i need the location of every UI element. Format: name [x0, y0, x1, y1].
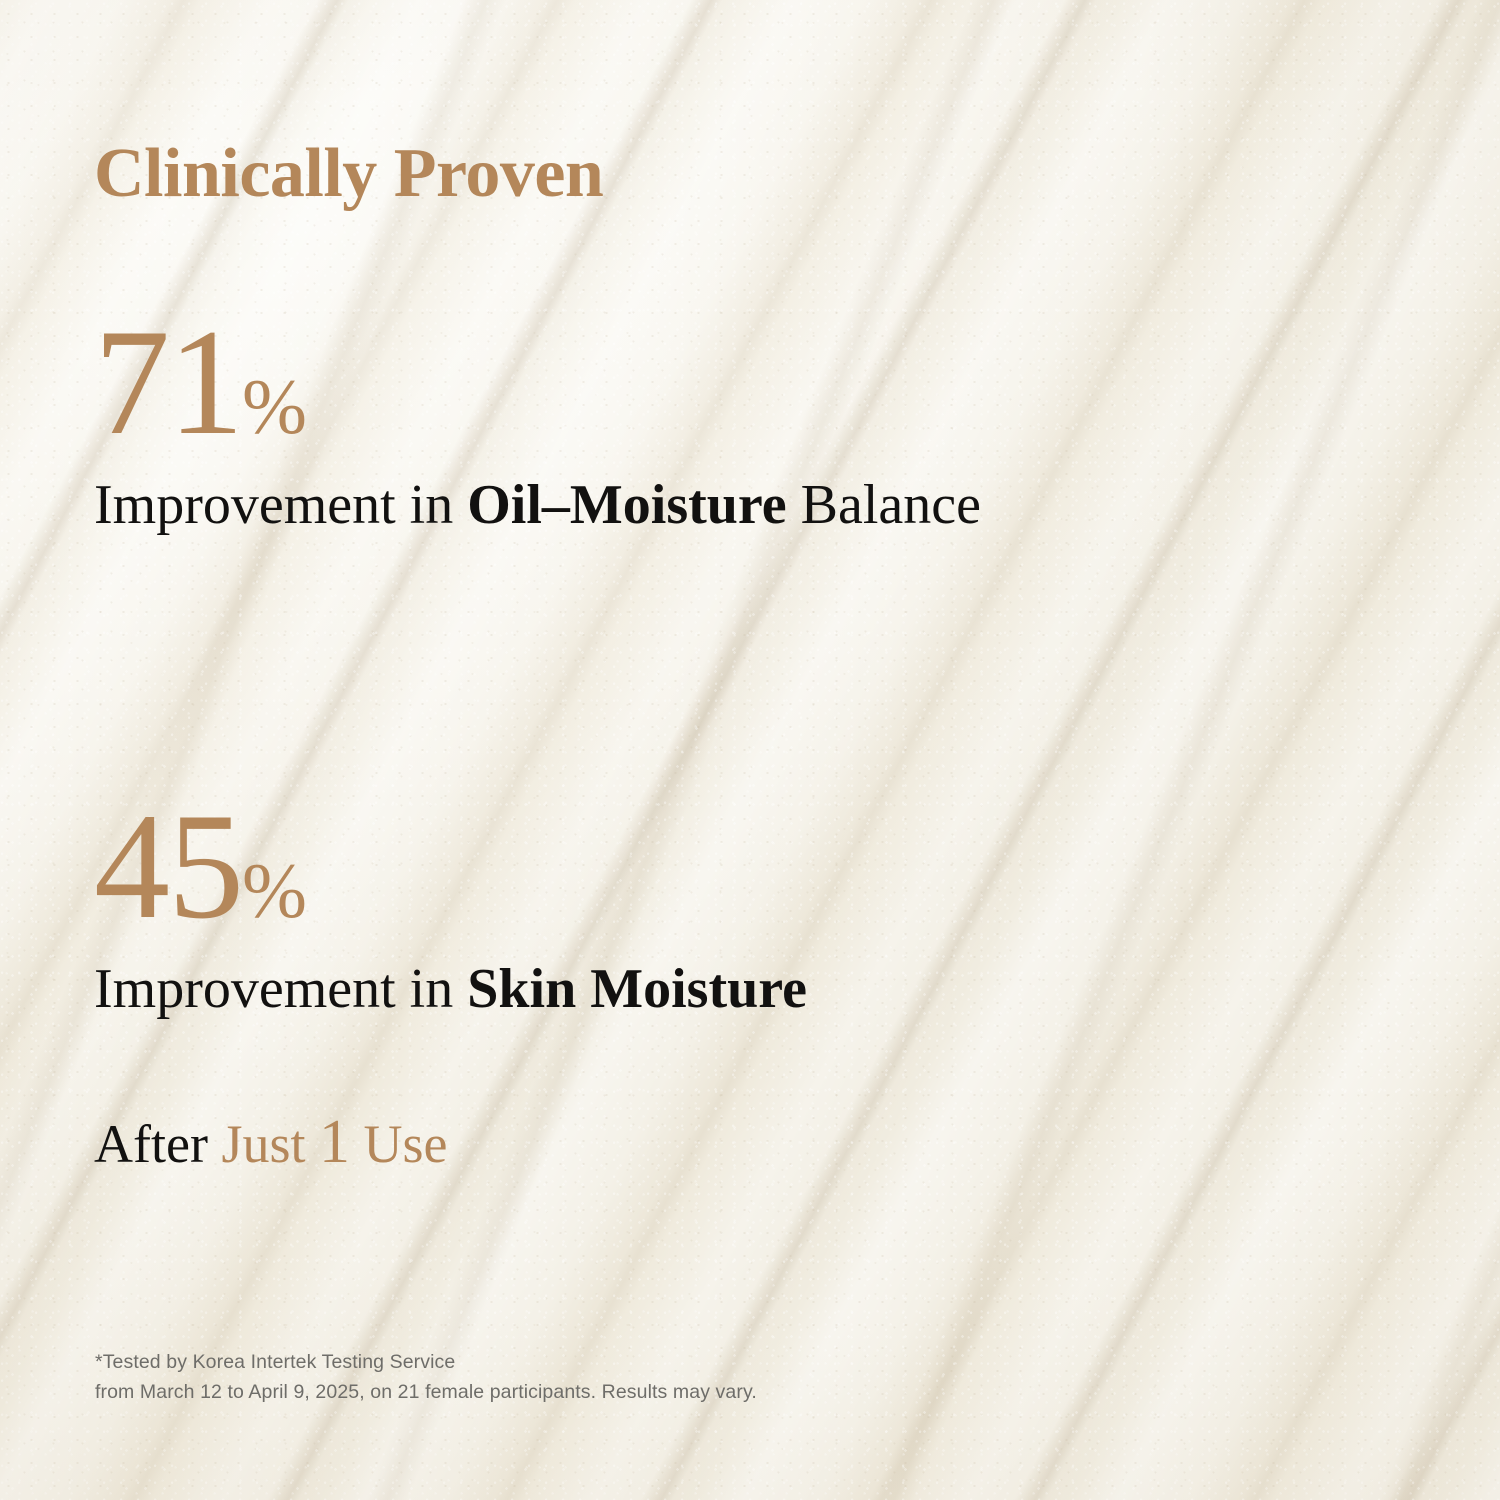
poster-content: Clinically Proven 71% Improvement in Oil… — [0, 0, 1500, 1500]
stat-block-oil-moisture: 71% Improvement in Oil–Moisture Balance — [94, 306, 981, 541]
footnote: *Tested by Korea Intertek Testing Servic… — [95, 1348, 757, 1407]
stat-caption-skin-moisture: Improvement in Skin Moisture — [94, 954, 807, 1025]
caption-emphasis: Skin Moisture — [467, 958, 807, 1020]
usage-note-highlight-pre: Just — [221, 1114, 319, 1174]
footnote-line-1: *Tested by Korea Intertek Testing Servic… — [95, 1348, 757, 1378]
usage-note: After Just 1 Use — [94, 1108, 447, 1176]
stat-value-oil-moisture: 71% — [94, 306, 981, 458]
footnote-line-2: from March 12 to April 9, 2025, on 21 fe… — [95, 1378, 757, 1408]
stat-caption-oil-moisture: Improvement in Oil–Moisture Balance — [94, 470, 981, 541]
caption-suffix: Balance — [787, 474, 981, 536]
stat-value-skin-moisture: 45% — [94, 790, 807, 942]
stat-number-text: 71 — [94, 298, 242, 466]
clinical-claims-poster: Clinically Proven 71% Improvement in Oil… — [0, 0, 1500, 1500]
stat-number-text: 45 — [94, 782, 242, 950]
caption-prefix: Improvement in — [94, 474, 467, 536]
usage-note-highlight-post: Use — [350, 1114, 447, 1174]
usage-note-count: 1 — [319, 1108, 350, 1176]
caption-prefix: Improvement in — [94, 958, 467, 1020]
page-title: Clinically Proven — [94, 139, 603, 209]
percent-symbol: % — [242, 847, 307, 934]
usage-note-lead: After — [94, 1114, 221, 1174]
percent-symbol: % — [242, 363, 307, 450]
stat-block-skin-moisture: 45% Improvement in Skin Moisture — [94, 790, 807, 1025]
caption-emphasis: Oil–Moisture — [467, 474, 786, 536]
